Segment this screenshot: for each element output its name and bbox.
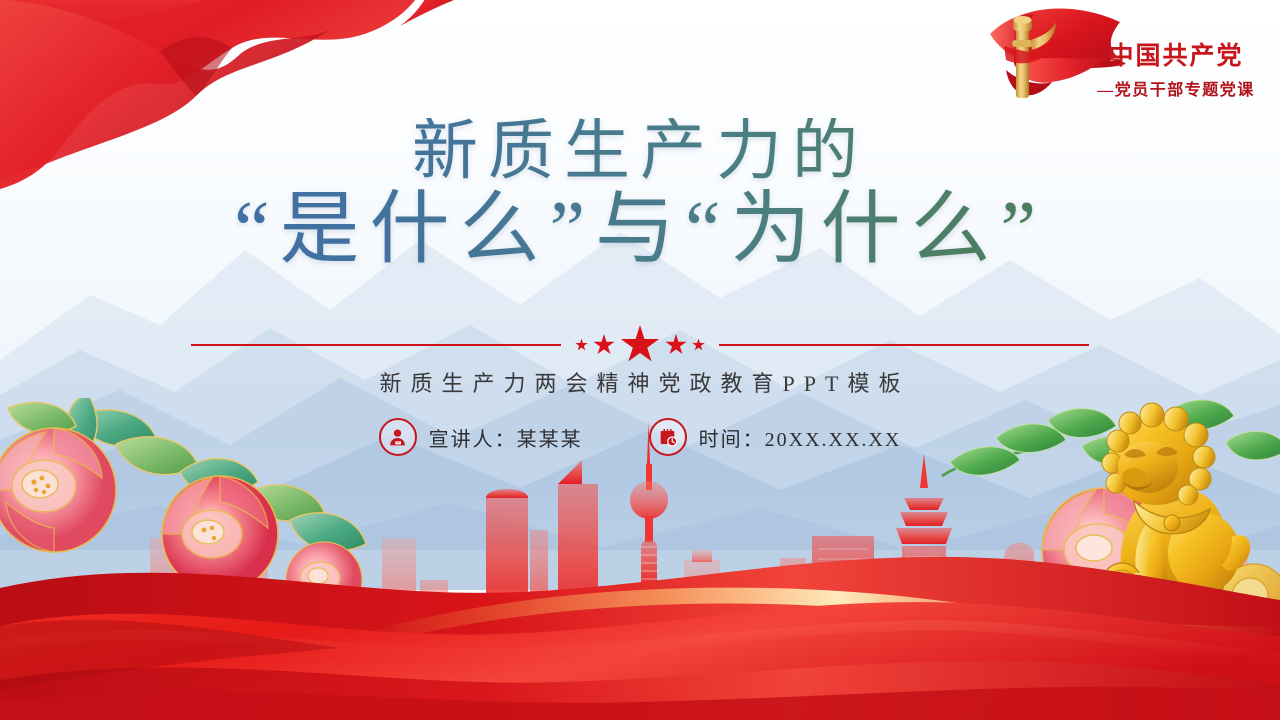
date-text: 时间：20XX.XX.XX xyxy=(699,423,902,452)
divider-with-stars xyxy=(0,322,1280,368)
star-group xyxy=(561,325,719,365)
date-item: 时间：20XX.XX.XX xyxy=(649,418,902,456)
presenter-text: 宣讲人：某某某 xyxy=(429,423,583,452)
calendar-clock-glyph xyxy=(657,427,678,448)
star-4-icon xyxy=(665,334,687,356)
title-line-1: 新质生产力的 xyxy=(0,118,1280,187)
party-logo: 中国共产党 —党员干部专题党课 xyxy=(986,6,1274,118)
star-1-icon xyxy=(575,339,588,352)
person-glyph xyxy=(387,427,408,448)
divider-rule-right xyxy=(719,344,1089,346)
title-block: 新质生产力的 “是什么”与“为什么” xyxy=(0,118,1280,272)
divider-rule-left xyxy=(191,344,561,346)
presenter-item: 宣讲人：某某某 xyxy=(379,418,583,456)
logo-subtitle: —党员干部专题党课 xyxy=(1078,76,1274,100)
subtitle: 新质生产力两会精神党政教育PPT模板 xyxy=(0,366,1280,398)
logo-text-block: 中国共产党 —党员干部专题党课 xyxy=(1078,36,1274,100)
star-3-icon xyxy=(620,325,660,365)
title-line-2: “是什么”与“为什么” xyxy=(0,189,1280,272)
red-silk-waves xyxy=(0,530,1280,720)
person-icon xyxy=(379,418,417,456)
star-2-icon xyxy=(593,334,615,356)
star-5-icon xyxy=(692,339,705,352)
slide-canvas: 中国共产党 —党员干部专题党课 新质生产力的 “是什么”与“为什么” 新质生产力… xyxy=(0,0,1280,720)
logo-title: 中国共产党 xyxy=(1078,36,1274,72)
calendar-clock-icon xyxy=(649,418,687,456)
meta-row: 宣讲人：某某某 时间：20XX.XX.XX xyxy=(0,418,1280,456)
